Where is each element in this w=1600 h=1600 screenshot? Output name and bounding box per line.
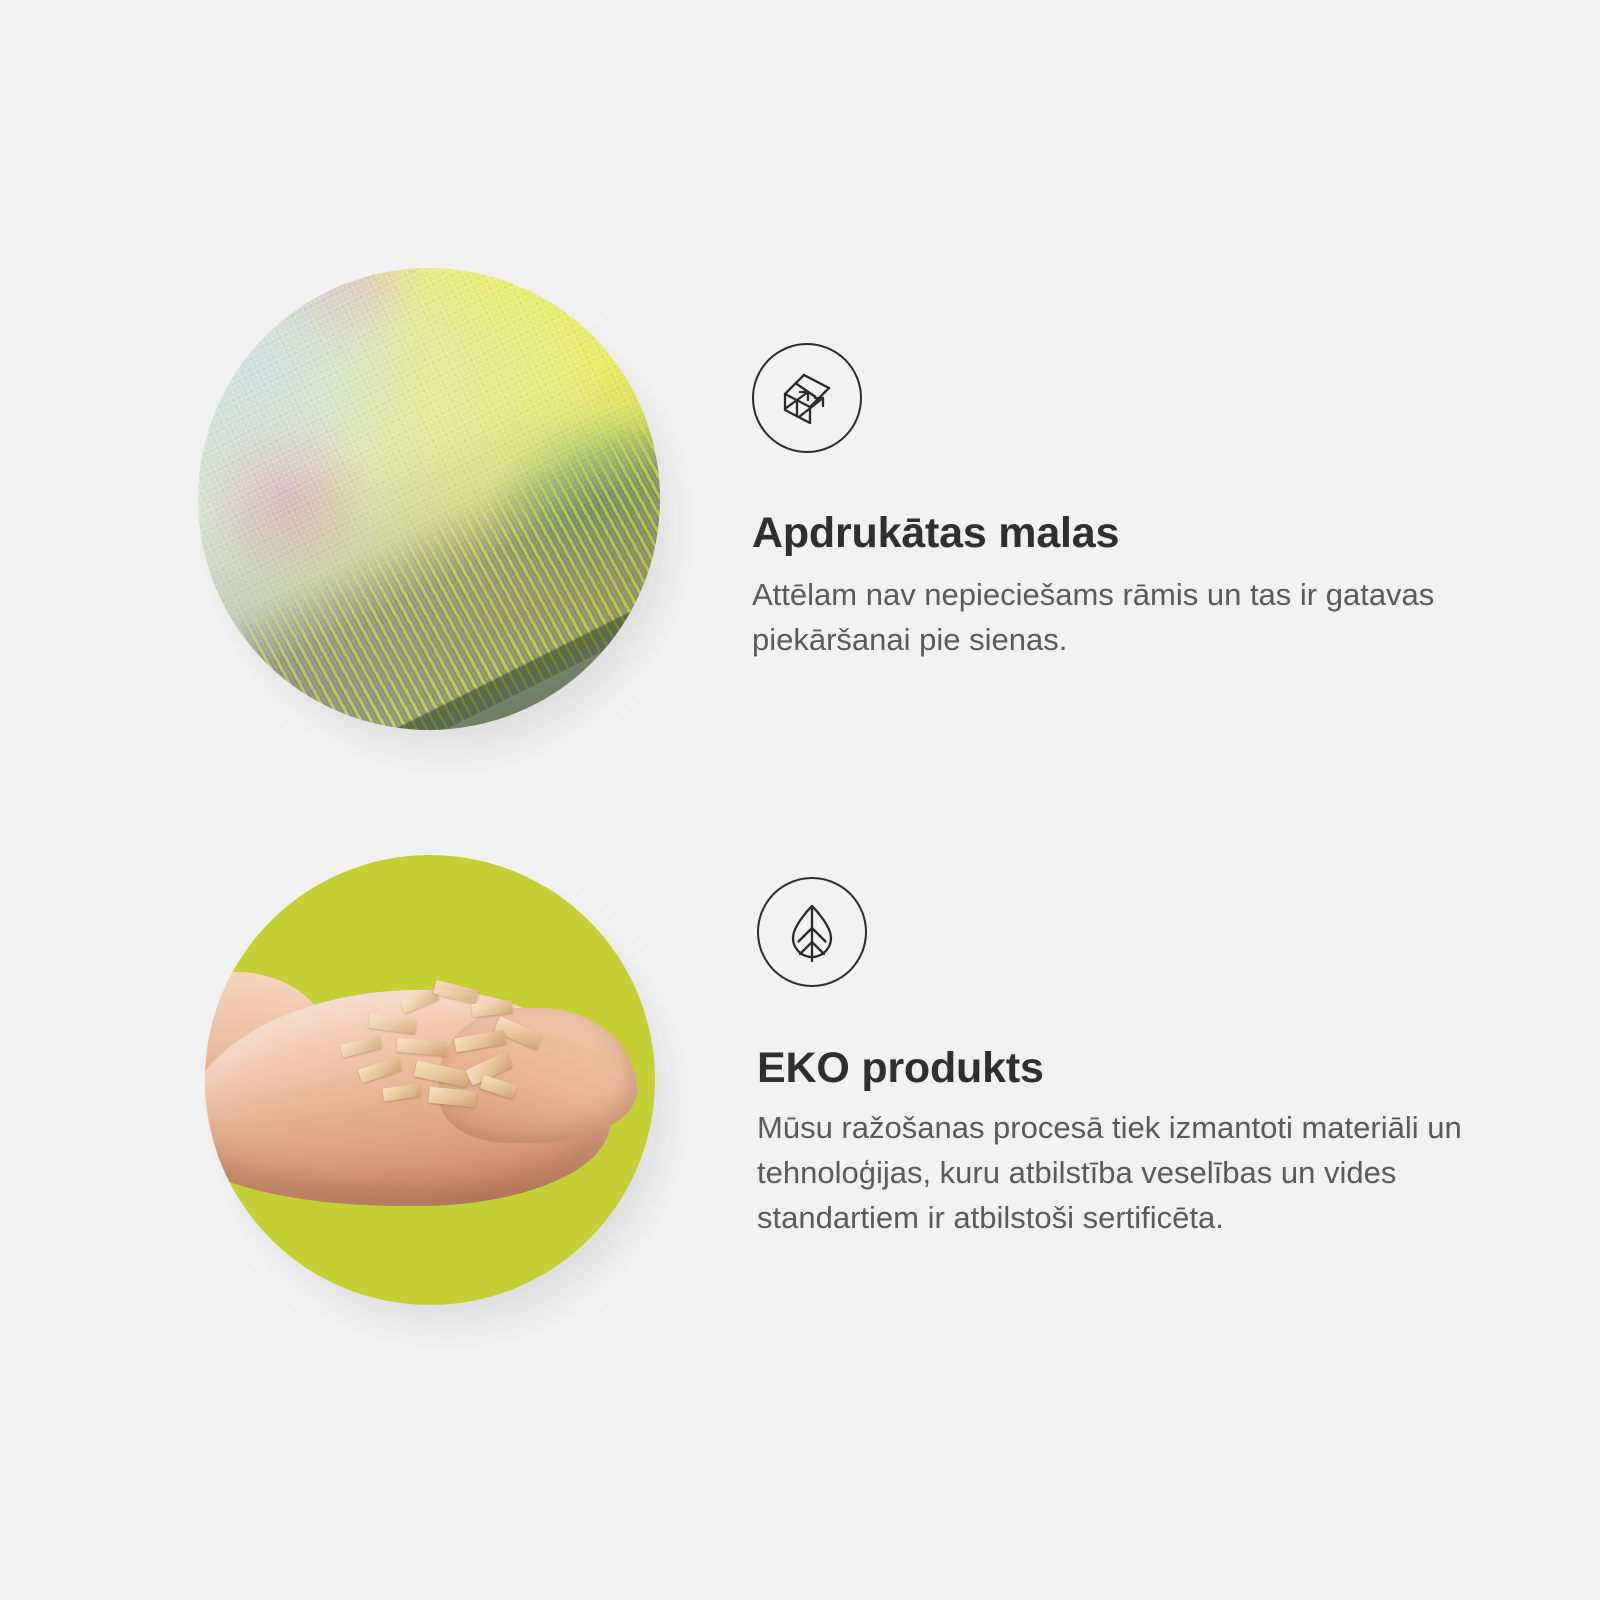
printed-canvas-edges-icon — [752, 343, 862, 453]
wood-chips-pile — [327, 977, 561, 1121]
circular-photo-wood-chips — [205, 855, 655, 1305]
wall-shadow-overlay — [198, 268, 660, 730]
feature-eko-product: EKO produkts Mūsu ražošanas procesā tiek… — [0, 800, 1600, 1600]
feature-text-printed-edges: Apdrukātas malas Attēlam nav nepieciešam… — [752, 343, 1512, 663]
leaf-icon — [757, 877, 867, 987]
feature-image-printed-edges — [198, 268, 660, 730]
product-features-page: Apdrukātas malas Attēlam nav nepieciešam… — [0, 0, 1600, 1600]
feature-title: EKO produkts — [757, 1045, 1517, 1092]
feature-description: Attēlam nav nepieciešams rāmis un tas ir… — [752, 573, 1482, 663]
feature-printed-edges: Apdrukātas malas Attēlam nav nepieciešam… — [0, 0, 1600, 800]
feature-title: Apdrukātas malas — [752, 510, 1512, 557]
feature-image-eko — [205, 855, 655, 1305]
feature-text-eko: EKO produkts Mūsu ražošanas procesā tiek… — [757, 877, 1517, 1241]
circular-photo-canvas-corner — [198, 268, 660, 730]
feature-description: Mūsu ražošanas procesā tiek izmantoti ma… — [757, 1106, 1497, 1241]
